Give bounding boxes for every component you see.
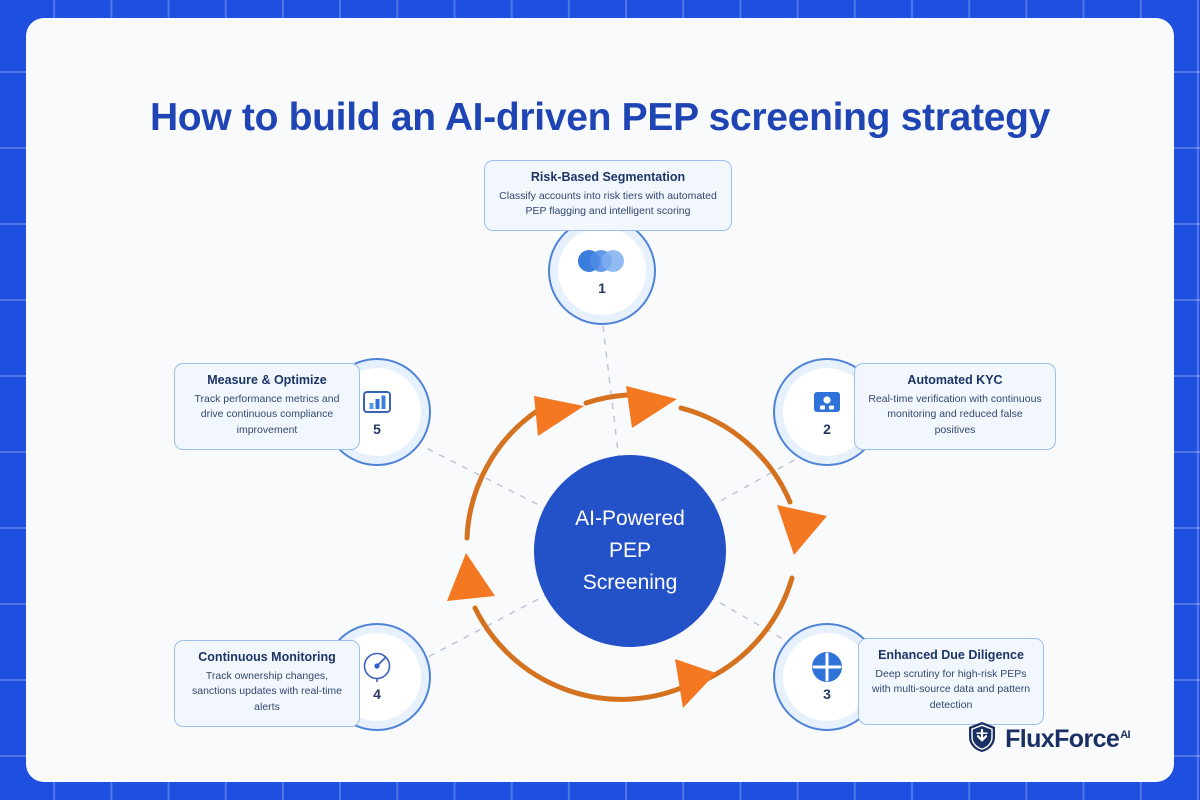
brand-logo: FluxForceAI — [967, 721, 1130, 758]
crosshair-plus-icon — [810, 652, 844, 682]
shield-download-icon — [967, 721, 997, 758]
logo-wordmark: FluxForceAI — [1005, 725, 1130, 754]
step-label-5: Measure & Optimize Track performance met… — [174, 363, 360, 450]
step-node-1[interactable]: 1 — [548, 217, 656, 325]
step-node-1-inner: 1 — [558, 227, 646, 315]
id-card-icon — [812, 387, 842, 417]
step-desc-3: Deep scrutiny for high-risk PEPs with mu… — [871, 667, 1031, 714]
hub-line-2: PEP — [609, 535, 651, 567]
hub-line-3: Screening — [583, 567, 678, 599]
step-desc-4: Track ownership changes, sanctions updat… — [187, 669, 347, 716]
step-title-2: Automated KYC — [867, 373, 1043, 389]
step-title-3: Enhanced Due Diligence — [871, 648, 1031, 664]
step-label-2: Automated KYC Real-time verification wit… — [854, 363, 1056, 450]
overlapping-circles-icon — [576, 246, 628, 276]
step-number-2: 2 — [823, 421, 831, 437]
step-label-3: Enhanced Due Diligence Deep scrutiny for… — [858, 638, 1044, 725]
hub-line-1: AI-Powered — [575, 503, 685, 535]
logo-superscript: AI — [1120, 729, 1130, 741]
grid-background: How to build an AI-driven PEP screening … — [0, 0, 1200, 800]
bar-chart-icon — [362, 387, 392, 417]
logo-name: FluxForce — [1005, 725, 1119, 753]
hub-center: AI-Powered PEP Screening — [534, 455, 726, 647]
step-desc-1: Classify accounts into risk tiers with a… — [497, 189, 719, 221]
step-title-4: Continuous Monitoring — [187, 650, 347, 666]
step-number-3: 3 — [823, 686, 831, 702]
gauge-icon — [361, 652, 393, 682]
step-title-1: Risk-Based Segmentation — [497, 170, 719, 186]
step-title-5: Measure & Optimize — [187, 373, 347, 389]
step-desc-5: Track performance metrics and drive cont… — [187, 392, 347, 439]
step-number-1: 1 — [598, 280, 606, 296]
step-label-1: Risk-Based Segmentation Classify account… — [484, 160, 732, 231]
page-title: How to build an AI-driven PEP screening … — [26, 96, 1174, 140]
step-number-5: 5 — [373, 421, 381, 437]
infographic-card: How to build an AI-driven PEP screening … — [26, 18, 1174, 782]
step-desc-2: Real-time verification with continuous m… — [867, 392, 1043, 439]
step-number-4: 4 — [373, 686, 381, 702]
step-label-4: Continuous Monitoring Track ownership ch… — [174, 640, 360, 727]
